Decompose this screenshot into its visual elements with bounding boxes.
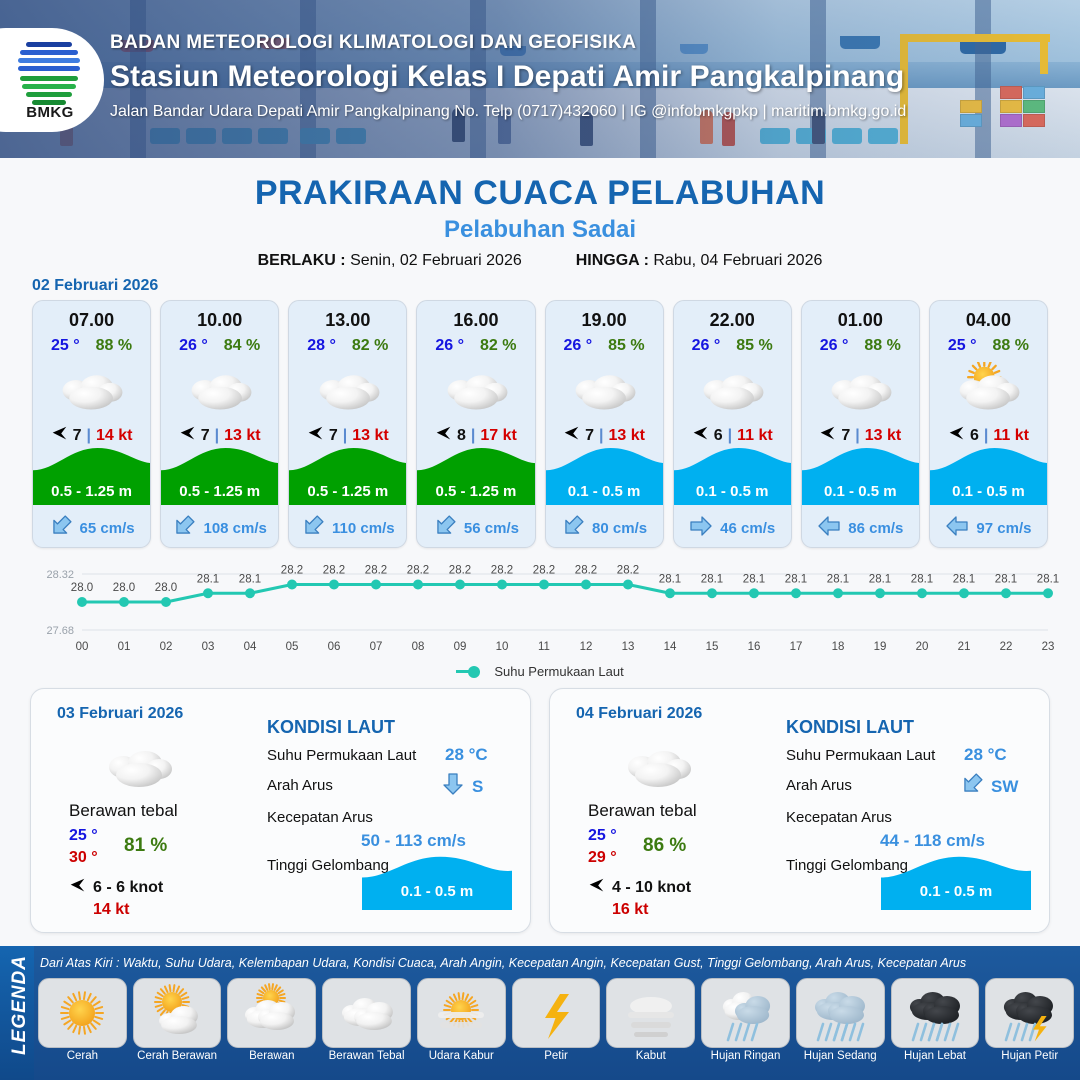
card-time: 10.00 [161,310,278,331]
legend-item-label: Hujan Sedang [796,1050,885,1062]
svg-text:28.1: 28.1 [701,573,723,585]
svg-text:28.2: 28.2 [323,565,345,577]
berlaku-label: BERLAKU : [258,252,346,269]
card-wind-speed: 8 [457,427,466,445]
legend-item: Kabut [606,978,695,1078]
svg-text:21: 21 [958,641,971,653]
berawan-tebal-icon [674,361,791,417]
legend-items: Cerah Cerah Berawan [38,978,1074,1078]
page-title: PRAKIRAAN CUACA PELABUHAN [0,174,1080,213]
card-wind-row: 6 | 11 kt [930,425,1047,447]
svg-text:00: 00 [76,641,89,653]
card-wave-height: 0.1 - 0.5 m [802,483,919,500]
card-separator: | [215,427,219,445]
card-gust: 13 kt [224,427,260,445]
legend-item-label: Hujan Ringan [701,1050,790,1062]
wave-graphic [362,854,512,910]
hourly-card: 22.00 26 ° 85 % 6 | 11 k [673,300,792,548]
card-time: 04.00 [930,310,1047,331]
berlaku-group: BERLAKU : Senin, 02 Februari 2026 [258,252,522,270]
panel-wind-range: 4 - 10 knot [612,879,691,897]
svg-text:05: 05 [286,641,299,653]
legend-item-label: Hujan Lebat [891,1050,980,1062]
panel-wind-range: 6 - 6 knot [93,879,163,897]
card-current-speed: 108 cm/s [203,520,266,537]
sun-icon [38,978,127,1048]
page-header: BMKG BADAN METEOROLOGI KLIMATOLOGI DAN G… [0,0,1080,158]
current-direction-group: S [441,773,483,800]
svg-text:28.1: 28.1 [827,573,849,585]
daily-panel: 04 Februari 2026 Berawan tebal 25 ° 29 °… [549,688,1050,933]
current-speed-label: Kecepatan Arus [786,809,892,826]
fog-icon [606,978,695,1048]
hourly-forecast-row: 07.00 25 ° 88 % 7 | 14 k [32,300,1048,548]
card-current-row: 80 cm/s [546,515,663,541]
panel-wave-value: 0.1 - 0.5 m [881,883,1031,900]
current-direction-icon [817,515,841,541]
current-direction-icon [561,515,585,541]
legend-marker [468,666,480,678]
current-direction-icon [49,515,73,541]
card-temp-hum-row: 26 ° 85 % [546,337,663,355]
card-wind-row: 7 | 14 kt [33,425,150,447]
svg-text:28.2: 28.2 [533,565,555,577]
card-current-row: 56 cm/s [417,515,534,541]
current-direction-label: Arah Arus [786,777,852,794]
svg-text:17: 17 [790,641,803,653]
legend-item-label: Berawan [227,1050,316,1062]
panel-date: 04 Februari 2026 [576,705,702,723]
svg-text:28.1: 28.1 [1037,573,1059,585]
lightning-icon [512,978,601,1048]
berawan-tebal-icon [802,361,919,417]
panel-gust: 16 kt [612,901,648,919]
card-separator: | [728,427,732,445]
wave-graphic [881,854,1031,910]
hourly-card: 10.00 26 ° 84 % 7 | 13 k [160,300,279,548]
card-temperature: 26 ° [820,337,849,355]
sea-conditions-title: KONDISI LAUT [267,717,395,738]
panel-condition: Berawan tebal [69,801,178,821]
card-wind-row: 8 | 17 kt [417,425,534,447]
daily-forecast-panels: 03 Februari 2026 Berawan tebal 25 ° 30 °… [30,688,1050,933]
svg-text:27.68: 27.68 [46,625,74,637]
card-wind-row: 7 | 13 kt [161,425,278,447]
svg-text:08: 08 [412,641,425,653]
wind-direction-icon [948,425,965,447]
bmkg-logo-mark [16,38,82,104]
card-current-row: 46 cm/s [674,515,791,541]
svg-text:28.1: 28.1 [785,573,807,585]
legend-item: Hujan Sedang [796,978,885,1078]
svg-text:28.1: 28.1 [869,573,891,585]
legend-item-label: Petir [512,1050,601,1062]
current-direction-icon [172,515,196,541]
card-current-speed: 56 cm/s [464,520,519,537]
daily-panel: 03 Februari 2026 Berawan tebal 25 ° 30 °… [30,688,531,933]
current-direction-label: Arah Arus [267,777,333,794]
card-temperature: 25 ° [948,337,977,355]
card-temp-hum-row: 26 ° 88 % [802,337,919,355]
station-address: Jalan Bandar Udara Depati Amir Pangkalpi… [110,103,906,121]
berlaku-value: Senin, 02 Februari 2026 [350,252,522,269]
legend-item: Cerah [38,978,127,1078]
panel-wind-row: 4 - 10 knot [588,877,691,899]
card-current-speed: 86 cm/s [848,520,903,537]
legenda-word: LEGENDA [9,945,31,1065]
svg-text:28.0: 28.0 [113,582,135,594]
card-time: 13.00 [289,310,406,331]
light-rain-icon [701,978,790,1048]
svg-text:15: 15 [706,641,719,653]
svg-text:28.2: 28.2 [617,565,639,577]
heavy-rain-icon [891,978,980,1048]
svg-text:07: 07 [370,641,383,653]
berawan-tebal-icon [546,361,663,417]
card-wind-speed: 7 [841,427,850,445]
cerah-berawan-icon [930,361,1047,417]
card-temperature: 28 ° [307,337,336,355]
card-wind-speed: 6 [714,427,723,445]
card-humidity: 88 % [96,337,132,355]
svg-text:28.2: 28.2 [491,565,513,577]
card-gust: 13 kt [609,427,645,445]
card-current-row: 108 cm/s [161,515,278,541]
card-wave-height: 0.5 - 1.25 m [161,483,278,500]
hourly-card: 04.00 25 ° 88 % 6 [929,300,1048,548]
svg-text:04: 04 [244,641,257,653]
svg-text:03: 03 [202,641,215,653]
current-direction-value: S [472,777,483,797]
sst-chart: 28.3227.6828.028.028.028.128.128.228.228… [20,556,1060,668]
svg-text:28.1: 28.1 [239,573,261,585]
chart-legend: Suhu Permukaan Laut [0,664,1080,679]
svg-text:28.2: 28.2 [575,565,597,577]
hingga-label: HINGGA : [576,252,649,269]
panel-gust: 14 kt [93,901,129,919]
card-wind-speed: 7 [329,427,338,445]
legenda-strip: LEGENDA [0,946,34,1080]
berawan-tebal-icon [289,361,406,417]
panel-date: 03 Februari 2026 [57,705,183,723]
legend-note: Dari Atas Kiri : Waktu, Suhu Udara, Kele… [40,956,1074,970]
hourly-card: 16.00 26 ° 82 % 8 | 17 k [416,300,535,548]
hourly-card: 01.00 26 ° 88 % 7 | 13 k [801,300,920,548]
bmkg-logo-text: BMKG [12,104,88,121]
berawan-tebal-icon [33,361,150,417]
page-subtitle: Pelabuhan Sadai [0,216,1080,244]
legend-item-label: Berawan Tebal [322,1050,411,1062]
card-temp-hum-row: 26 ° 84 % [161,337,278,355]
legend-item: Cerah Berawan [133,978,222,1078]
legend-label: Suhu Permukaan Laut [494,664,623,679]
card-current-speed: 80 cm/s [592,520,647,537]
card-current-speed: 65 cm/s [80,520,135,537]
current-direction-icon [689,515,713,541]
card-temp-hum-row: 26 ° 85 % [674,337,791,355]
panel-temp-max: 29 ° [588,849,617,867]
card-wind-row: 7 | 13 kt [802,425,919,447]
card-time: 19.00 [546,310,663,331]
panel-wind-row: 6 - 6 knot [69,877,163,899]
card-temperature: 26 ° [435,337,464,355]
svg-text:10: 10 [496,641,509,653]
hourly-day-label: 02 Februari 2026 [32,277,158,295]
svg-text:02: 02 [160,641,173,653]
card-temperature: 25 ° [51,337,80,355]
card-wind-row: 7 | 13 kt [546,425,663,447]
legend-item: Berawan [227,978,316,1078]
sst-label: Suhu Permukaan Laut [786,747,935,764]
current-speed-label: Kecepatan Arus [267,809,373,826]
hingga-value: Rabu, 04 Februari 2026 [653,252,822,269]
card-current-row: 110 cm/s [289,515,406,541]
cloud-icon [322,978,411,1048]
wind-direction-icon [69,877,86,899]
card-current-row: 65 cm/s [33,515,150,541]
legend-item-label: Udara Kabur [417,1050,506,1062]
card-temp-hum-row: 28 ° 82 % [289,337,406,355]
svg-text:28.0: 28.0 [71,582,93,594]
panel-condition: Berawan tebal [588,801,697,821]
svg-text:20: 20 [916,641,929,653]
header-text-block: BADAN METEOROLOGI KLIMATOLOGI DAN GEOFIS… [110,32,906,121]
svg-text:28.2: 28.2 [449,565,471,577]
svg-text:28.0: 28.0 [155,582,177,594]
card-separator: | [87,427,91,445]
card-separator: | [343,427,347,445]
current-direction-icon [433,515,457,541]
hingga-group: HINGGA : Rabu, 04 Februari 2026 [576,252,823,270]
sst-value: 28 °C [964,745,1007,765]
panel-temp-min: 25 ° [69,827,98,845]
panel-humidity: 86 % [643,835,686,857]
svg-text:28.32: 28.32 [46,569,74,581]
current-speed-value: 44 - 118 cm/s [880,831,985,851]
card-gust: 11 kt [737,427,773,445]
svg-text:28.2: 28.2 [407,565,429,577]
card-current-speed: 110 cm/s [332,520,395,537]
card-gust: 11 kt [993,427,1029,445]
card-wave-height: 0.5 - 1.25 m [33,483,150,500]
card-current-speed: 46 cm/s [720,520,775,537]
card-humidity: 88 % [864,337,900,355]
svg-text:28.1: 28.1 [995,573,1017,585]
legend-item: Hujan Lebat [891,978,980,1078]
haze-icon [417,978,506,1048]
card-wind-speed: 7 [585,427,594,445]
bmkg-logo: BMKG [0,28,104,132]
card-wind-row: 6 | 11 kt [674,425,791,447]
legend-item: Berawan Tebal [322,978,411,1078]
svg-text:28.1: 28.1 [659,573,681,585]
berawan-tebal-icon [620,737,710,789]
thunderstorm-icon [985,978,1074,1048]
wind-direction-icon [588,877,605,899]
legend-item-label: Kabut [606,1050,695,1062]
card-current-row: 97 cm/s [930,515,1047,541]
card-temperature: 26 ° [564,337,593,355]
sea-conditions-title: KONDISI LAUT [786,717,914,738]
panel-temp-max: 30 ° [69,849,98,867]
current-direction-value: SW [991,777,1018,797]
svg-text:28.1: 28.1 [197,573,219,585]
wind-direction-icon [819,425,836,447]
card-separator: | [599,427,603,445]
card-humidity: 88 % [993,337,1029,355]
panel-wave-value: 0.1 - 0.5 m [362,883,512,900]
sun-cloud-icon [133,978,222,1048]
current-direction-icon [945,515,969,541]
svg-text:18: 18 [832,641,845,653]
card-gust: 17 kt [480,427,516,445]
panel-temp-min: 25 ° [588,827,617,845]
card-wave-height: 0.1 - 0.5 m [930,483,1047,500]
legend-item: Udara Kabur [417,978,506,1078]
card-time: 07.00 [33,310,150,331]
card-wave-height: 0.1 - 0.5 m [674,483,791,500]
svg-text:06: 06 [328,641,341,653]
card-temp-hum-row: 25 ° 88 % [33,337,150,355]
card-gust: 13 kt [352,427,388,445]
card-humidity: 82 % [352,337,388,355]
svg-text:23: 23 [1042,641,1055,653]
svg-text:12: 12 [580,641,593,653]
sst-value: 28 °C [445,745,488,765]
svg-text:28.2: 28.2 [365,565,387,577]
card-time: 16.00 [417,310,534,331]
arrow-down-left-icon [960,773,984,800]
card-wave-height: 0.5 - 1.25 m [417,483,534,500]
card-separator: | [984,427,988,445]
panel-humidity: 81 % [124,835,167,857]
legend-item: Hujan Petir [985,978,1074,1078]
wind-direction-icon [51,425,68,447]
wind-direction-icon [692,425,709,447]
svg-text:28.2: 28.2 [281,565,303,577]
hourly-card: 19.00 26 ° 85 % 7 | 13 k [545,300,664,548]
card-time: 01.00 [802,310,919,331]
hourly-card: 07.00 25 ° 88 % 7 | 14 k [32,300,151,548]
berawan-tebal-icon [161,361,278,417]
wind-direction-icon [435,425,452,447]
card-wind-speed: 6 [970,427,979,445]
berawan-tebal-icon [101,737,191,789]
berawan-tebal-icon [417,361,534,417]
hourly-card: 13.00 28 ° 82 % 7 | 13 k [288,300,407,548]
card-wind-speed: 7 [201,427,210,445]
svg-text:13: 13 [622,641,635,653]
card-humidity: 85 % [736,337,772,355]
legend-item-label: Hujan Petir [985,1050,1074,1062]
validity-row: BERLAKU : Senin, 02 Februari 2026 HINGGA… [0,252,1080,270]
agency-name: BADAN METEOROLOGI KLIMATOLOGI DAN GEOFIS… [110,32,906,54]
svg-text:28.1: 28.1 [743,573,765,585]
wind-direction-icon [179,425,196,447]
card-humidity: 82 % [480,337,516,355]
svg-text:19: 19 [874,641,887,653]
svg-text:22: 22 [1000,641,1013,653]
card-wind-speed: 7 [73,427,82,445]
svg-text:28.1: 28.1 [911,573,933,585]
card-current-speed: 97 cm/s [976,520,1031,537]
card-separator: | [855,427,859,445]
card-humidity: 84 % [224,337,260,355]
svg-text:01: 01 [118,641,131,653]
svg-text:09: 09 [454,641,467,653]
card-gust: 13 kt [865,427,901,445]
legend-item-label: Cerah Berawan [133,1050,222,1062]
moderate-rain-icon [796,978,885,1048]
svg-text:16: 16 [748,641,761,653]
wind-direction-icon [563,425,580,447]
card-humidity: 85 % [608,337,644,355]
legend-item-label: Cerah [38,1050,127,1062]
svg-text:14: 14 [664,641,677,653]
current-direction-group: SW [960,773,1018,800]
legend-bar: LEGENDA Dari Atas Kiri : Waktu, Suhu Uda… [0,946,1080,1080]
card-temp-hum-row: 25 ° 88 % [930,337,1047,355]
legend-item: Hujan Ringan [701,978,790,1078]
card-gust: 14 kt [96,427,132,445]
station-name: Stasiun Meteorologi Kelas I Depati Amir … [110,60,906,94]
card-temperature: 26 ° [692,337,721,355]
wind-direction-icon [307,425,324,447]
current-direction-icon [301,515,325,541]
legend-item: Petir [512,978,601,1078]
cloud-sun-icon [227,978,316,1048]
card-time: 22.00 [674,310,791,331]
card-wind-row: 7 | 13 kt [289,425,406,447]
card-temperature: 26 ° [179,337,208,355]
svg-text:11: 11 [538,641,550,653]
card-temp-hum-row: 26 ° 82 % [417,337,534,355]
card-wave-height: 0.5 - 1.25 m [289,483,406,500]
arrow-down-icon [441,773,465,800]
card-wave-height: 0.1 - 0.5 m [546,483,663,500]
svg-text:28.1: 28.1 [953,573,975,585]
current-speed-value: 50 - 113 cm/s [361,831,466,851]
sst-label: Suhu Permukaan Laut [267,747,416,764]
card-separator: | [471,427,475,445]
card-current-row: 86 cm/s [802,515,919,541]
